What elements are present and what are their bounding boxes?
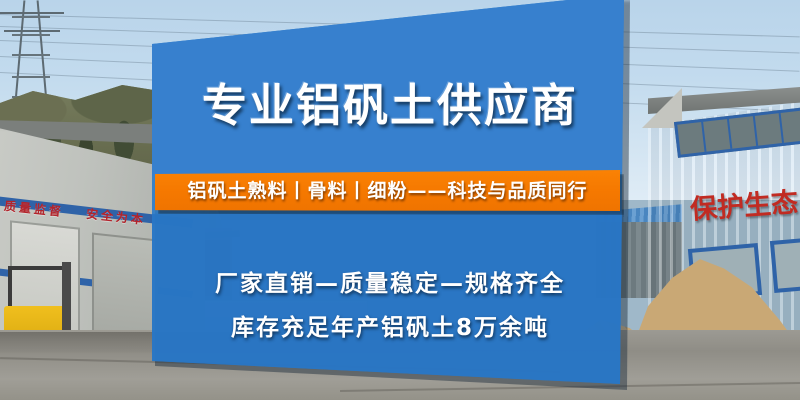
tagline-bar: 铝矾土熟料丨骨料丨细粉——科技与品质同行 (155, 170, 620, 211)
tagline-text: 铝矾土熟料丨骨料丨细粉——科技与品质同行 (187, 176, 587, 203)
banner-content: 专业铝矾土供应商 铝矾土熟料丨骨料丨细粉——科技与品质同行 厂家直销—质量稳定—… (0, 0, 800, 400)
headline: 专业铝矾土供应商 (170, 83, 610, 128)
promotional-banner: 质量监督 安全为本 保护生态 (0, 0, 800, 400)
subline-2: 库存充足年产铝矾土8万余吨 (170, 308, 610, 342)
subline-1: 厂家直销—质量稳定—规格齐全 (170, 264, 610, 298)
